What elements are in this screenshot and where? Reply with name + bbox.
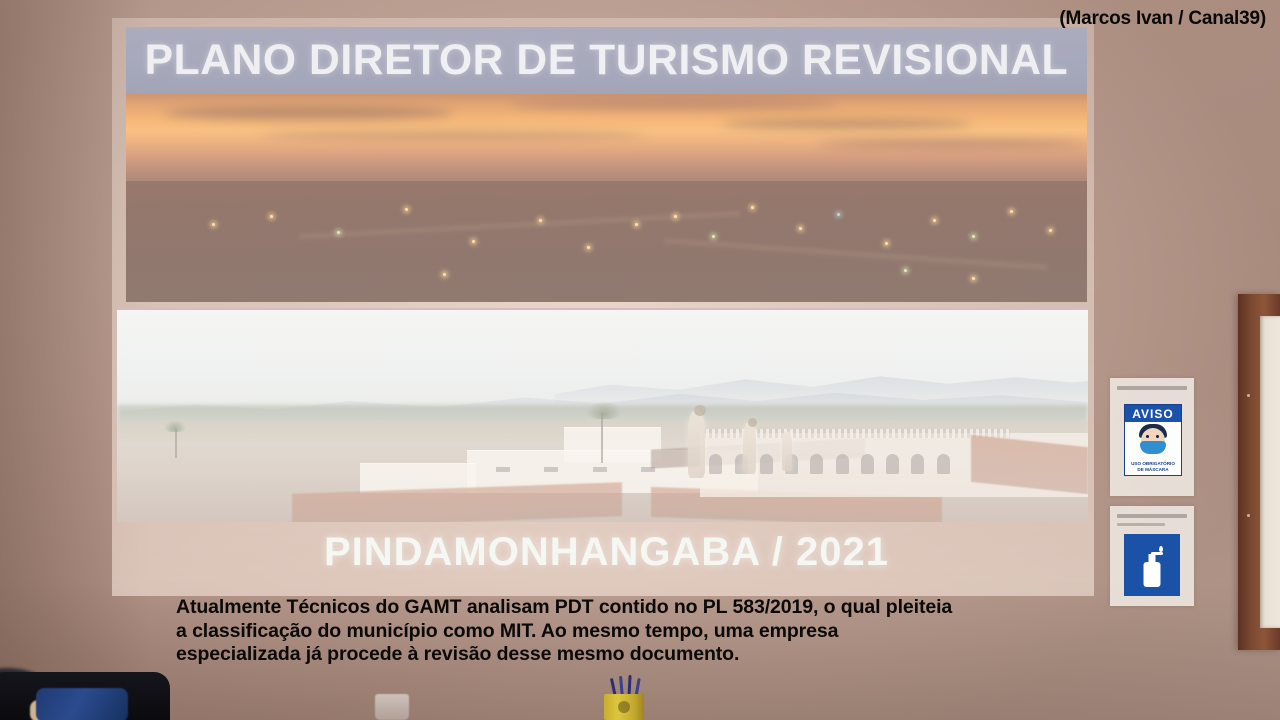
city-light — [443, 273, 446, 276]
wooden-picture-frame — [1238, 294, 1280, 650]
masked-face-icon — [1125, 422, 1181, 458]
face-eye-right — [1156, 435, 1159, 438]
overlay-caption: Atualmente Técnicos do GAMT analisam PDT… — [176, 596, 1056, 667]
sunset-cloud — [818, 140, 1087, 148]
wall-sign-sanitizer — [1110, 506, 1194, 606]
day-palm-crown — [164, 420, 186, 432]
sign-header-line — [1117, 386, 1187, 390]
face-eye-left — [1146, 435, 1149, 438]
slide-title: PLANO DIRETOR DE TURISMO REVISIONAL — [145, 36, 1068, 85]
slide-photo-sunset — [126, 94, 1087, 302]
frame-nail — [1247, 394, 1250, 397]
caption-line-2: a classificação do município como MIT. A… — [176, 620, 1056, 644]
foreground-glass — [375, 694, 409, 720]
sign-header-subline — [1117, 523, 1165, 526]
photo-credit: (Marcos Ivan / Canal39) — [1059, 8, 1266, 30]
day-palm-trunk — [175, 429, 177, 459]
sunset-cloud — [722, 119, 972, 129]
wall-sign-mask: AVISO USO OBRIGATÓRIO DE MÁSCARA — [1110, 378, 1194, 496]
city-light — [270, 215, 273, 218]
day-window — [593, 467, 607, 472]
day-arch — [836, 454, 849, 474]
city-light — [837, 213, 840, 216]
city-light — [885, 242, 888, 245]
day-arch — [760, 454, 773, 474]
foreground-bag-contents — [36, 688, 128, 720]
day-arch — [810, 454, 823, 474]
slide-photo-daytime — [117, 308, 1088, 522]
sanitizer-pump — [1151, 552, 1163, 555]
day-window — [641, 467, 655, 472]
city-light — [799, 227, 802, 230]
aviso-caption-line-2: DE MÁSCARA — [1125, 467, 1181, 473]
day-arch — [911, 454, 924, 474]
hand-sanitizer-icon — [1124, 534, 1180, 596]
day-arch — [861, 454, 874, 474]
sunset-city-silhouette — [126, 181, 1087, 302]
slide-footer-text: PINDAMONHANGABA / 2021 — [324, 530, 889, 575]
frame-inner-panel — [1260, 316, 1280, 628]
day-window — [544, 467, 558, 472]
day-arch — [937, 454, 950, 474]
day-palm-crown — [587, 401, 621, 419]
day-statue — [782, 431, 792, 471]
city-light — [472, 240, 475, 243]
day-statue — [743, 422, 756, 474]
screenshot-root: PLANO DIRETOR DE TURISMO REVISIONAL — [0, 0, 1280, 720]
aviso-title: AVISO — [1125, 405, 1181, 422]
foreground-pen-holder — [604, 694, 644, 720]
frame-nail — [1247, 514, 1250, 517]
city-light — [1049, 229, 1052, 232]
day-arch — [886, 454, 899, 474]
day-window — [496, 467, 510, 472]
caption-line-1: Atualmente Técnicos do GAMT analisam PDT… — [176, 596, 1056, 620]
slide-footer: PINDAMONHANGABA / 2021 — [126, 520, 1087, 584]
day-palm-trunk — [601, 412, 603, 463]
sanitizer-neck — [1149, 554, 1156, 562]
sign-header-line — [1117, 514, 1187, 518]
day-statue — [688, 410, 705, 478]
slide-title-band: PLANO DIRETOR DE TURISMO REVISIONAL — [126, 27, 1087, 94]
face-mask — [1140, 441, 1166, 454]
aviso-caption: USO OBRIGATÓRIO DE MÁSCARA — [1125, 461, 1181, 473]
sanitizer-drop — [1159, 546, 1163, 552]
city-light — [674, 215, 677, 218]
city-light — [972, 277, 975, 280]
day-arch — [709, 454, 722, 474]
pen-holder-logo — [618, 701, 630, 713]
caption-line-3: especializada já procede à revisão desse… — [176, 643, 1056, 667]
aviso-box: AVISO USO OBRIGATÓRIO DE MÁSCARA — [1124, 404, 1182, 476]
sanitizer-bottle — [1144, 562, 1161, 587]
